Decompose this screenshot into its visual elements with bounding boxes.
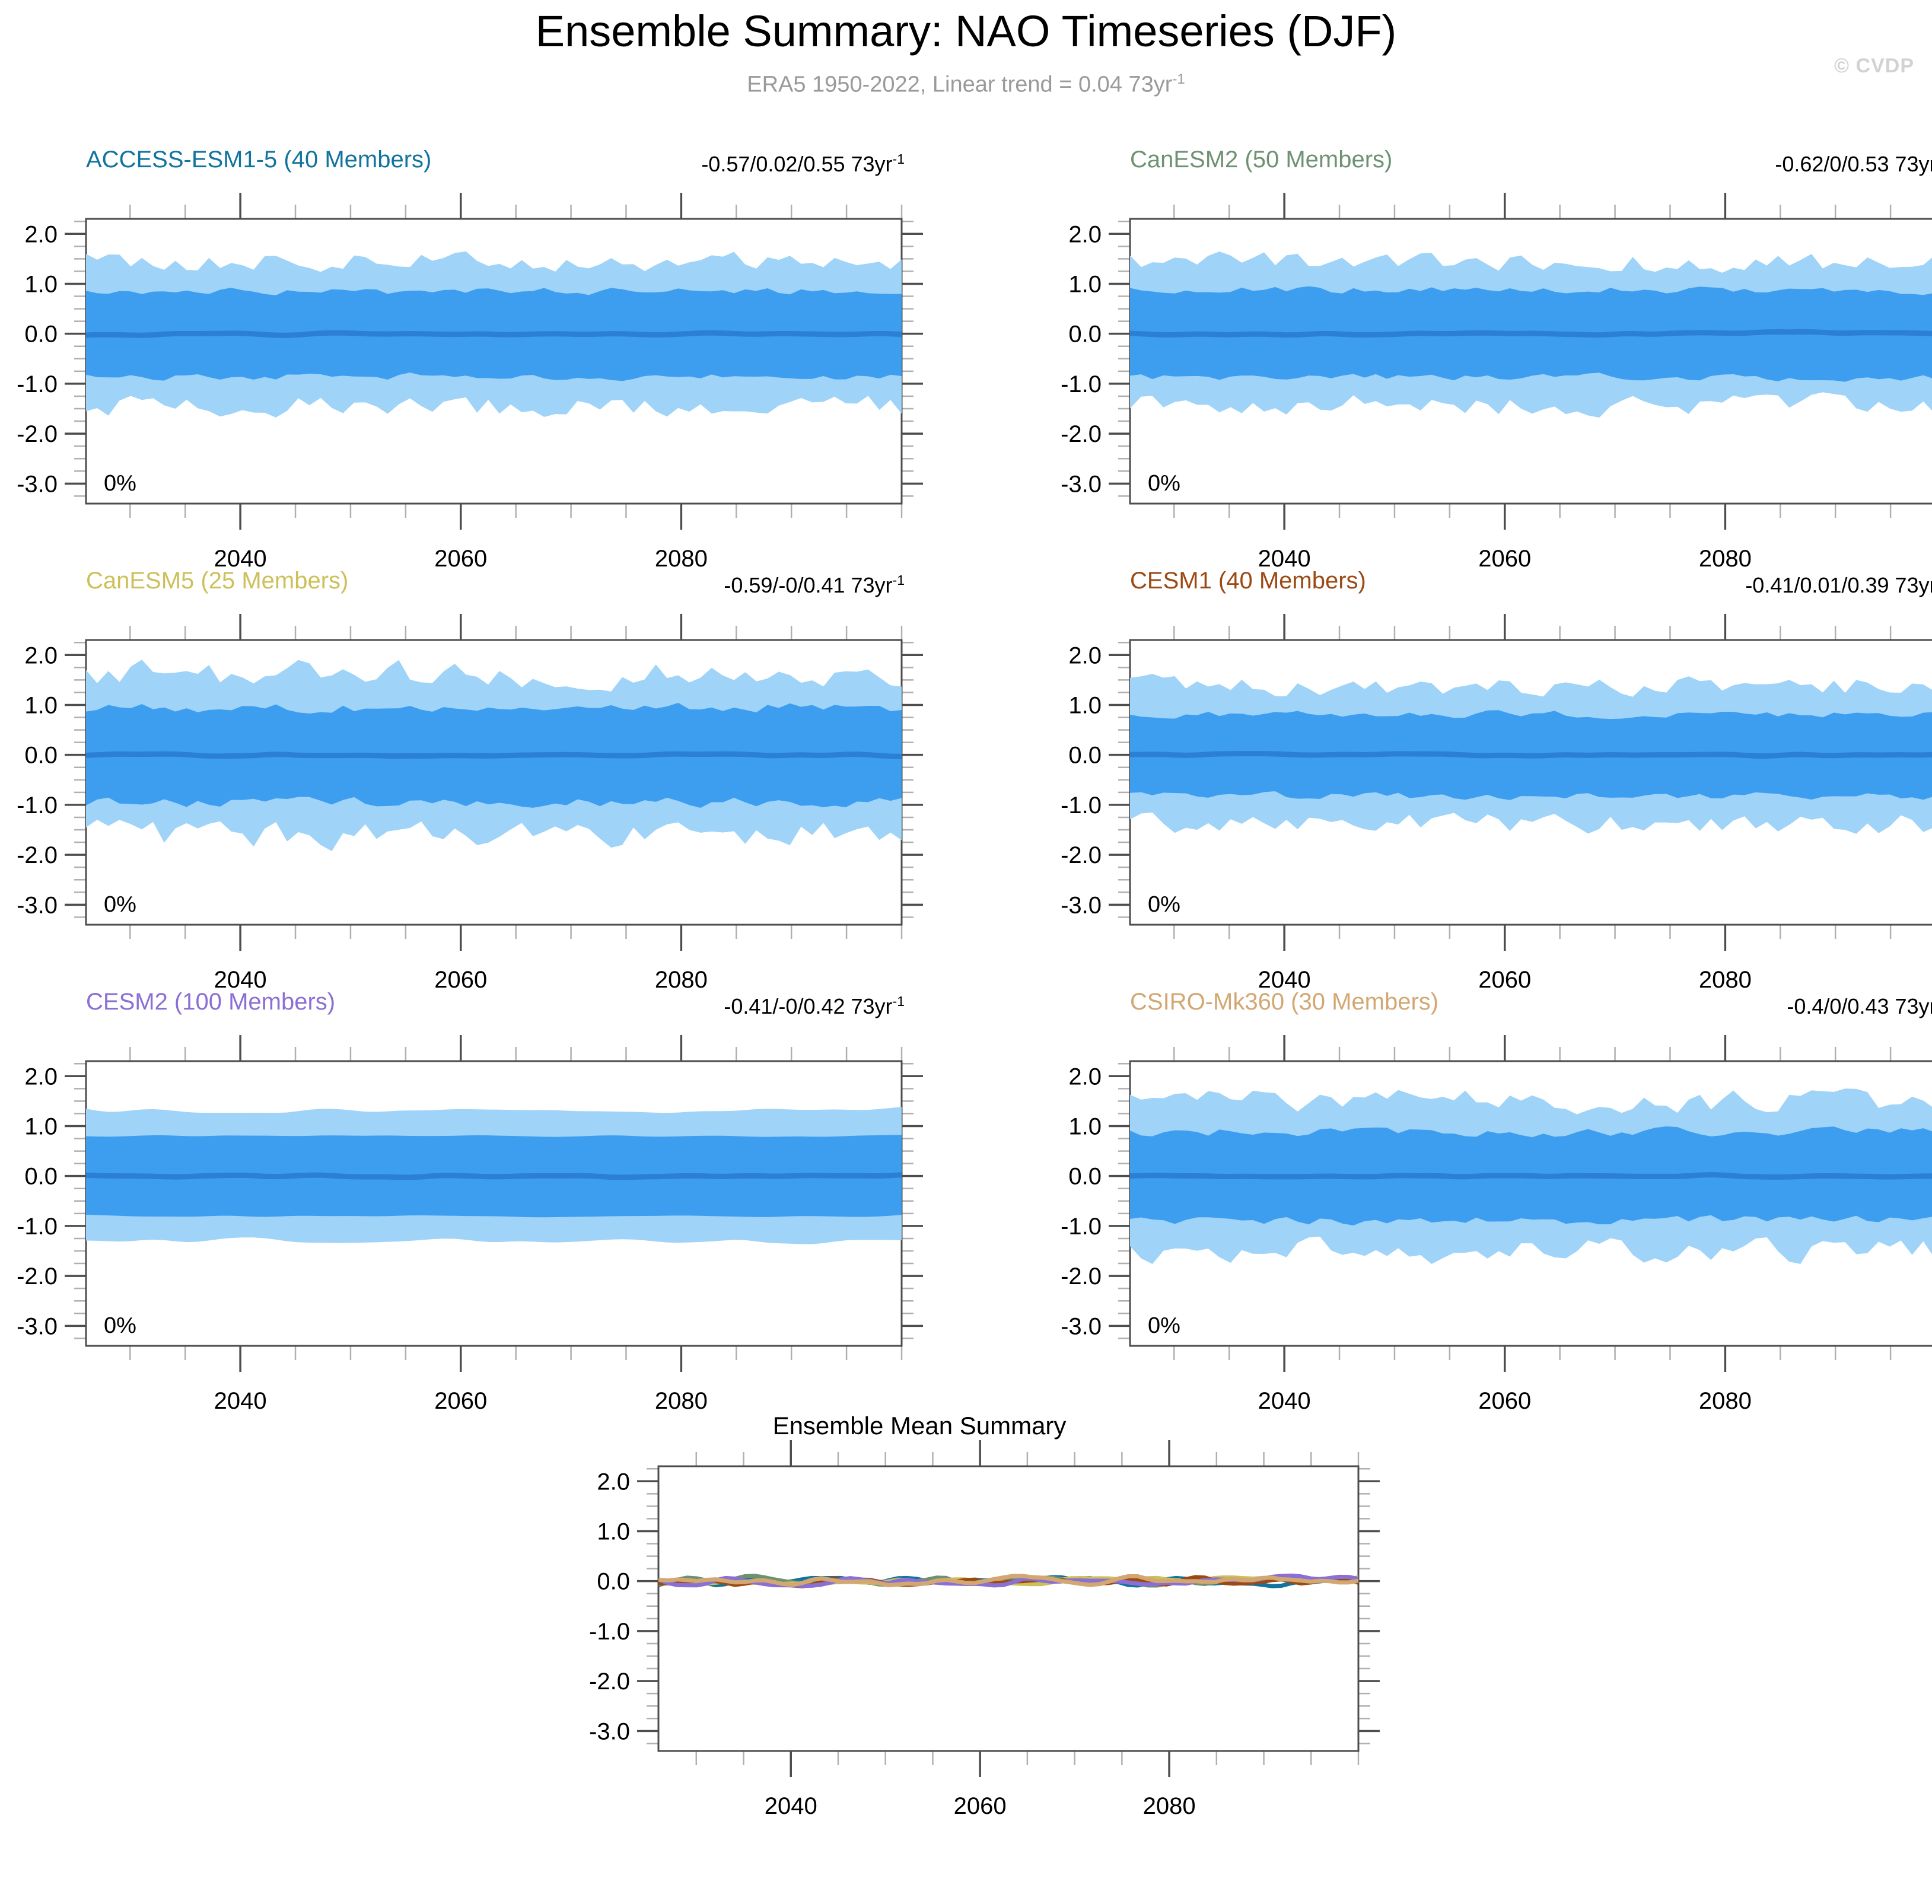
- panel-trend-range: -0.59/-0/0.41 73yr-1: [383, 572, 905, 598]
- panel-trend-value: -0.57/0.02/0.55 73yr: [701, 152, 892, 176]
- y-axis-tick-label: 0.0: [24, 321, 58, 348]
- x-axis-tick-label: 2040: [214, 1388, 267, 1414]
- y-axis-tick-label: -3.0: [17, 471, 58, 497]
- panel-plot: 2.01.00.0-1.0-2.0-3.02040206020800%: [1044, 1048, 1932, 1440]
- x-axis-tick-label: 2060: [434, 1388, 487, 1414]
- y-axis-tick-label: -2.0: [589, 1669, 630, 1695]
- y-axis-tick-label: -2.0: [1061, 842, 1102, 868]
- x-axis-tick-label: 2080: [1699, 546, 1752, 572]
- page-title: Ensemble Summary: NAO Timeseries (DJF): [0, 6, 1932, 56]
- x-axis-tick-label: 2060: [434, 967, 487, 993]
- panel-trend-value: -0.62/0/0.53 73yr: [1775, 152, 1932, 176]
- y-axis-tick-label: 1.0: [1068, 271, 1102, 297]
- y-axis-tick-label: -1.0: [1061, 1214, 1102, 1240]
- x-axis-tick-label: 2060: [1478, 546, 1531, 572]
- panel-trend-range: -0.41/-0/0.42 73yr-1: [383, 994, 905, 1019]
- y-axis-tick-label: -3.0: [589, 1718, 630, 1744]
- y-axis-tick-label: 2.0: [24, 642, 58, 668]
- ensemble-mean-plot: 2.01.00.0-1.0-2.0-3.0204020602080: [498, 1453, 1388, 1904]
- y-axis-tick-label: 2.0: [597, 1469, 630, 1495]
- x-axis-tick-label: 2080: [1699, 1388, 1752, 1414]
- y-axis-tick-label: 0.0: [1068, 743, 1102, 769]
- y-axis-tick-label: -1.0: [17, 792, 58, 819]
- y-axis-tick-label: -3.0: [17, 892, 58, 918]
- panel-trend-range: -0.41/0.01/0.39 73yr-1: [1427, 572, 1932, 598]
- cvdp-watermark: © CVDP: [1834, 55, 1914, 78]
- y-axis-tick-label: 2.0: [24, 221, 58, 247]
- percent-significant-label: 0%: [1148, 471, 1180, 496]
- y-axis-tick-label: 2.0: [24, 1064, 58, 1090]
- y-axis-tick-label: 1.0: [1068, 1113, 1102, 1139]
- ensemble-median-line: [1130, 1174, 1932, 1177]
- y-axis-tick-label: -1.0: [1061, 792, 1102, 819]
- y-axis-tick-label: 0.0: [24, 743, 58, 769]
- x-axis-tick-label: 2060: [434, 546, 487, 572]
- percent-significant-label: 0%: [104, 1313, 136, 1338]
- x-axis-tick-label: 2060: [1478, 1388, 1531, 1414]
- y-axis-tick-label: 0.0: [1068, 321, 1102, 348]
- panel-trend-value: -0.41/-0/0.42 73yr: [724, 994, 892, 1018]
- x-axis-tick-label: 2080: [655, 546, 708, 572]
- panel-trend-value: -0.4/0/0.43 73yr: [1787, 994, 1932, 1018]
- panel-title: CSIRO-Mk360 (30 Members): [1130, 989, 1438, 1015]
- panel-plot: 2.01.00.0-1.0-2.0-3.02040206020800%: [0, 206, 985, 597]
- y-axis-tick-label: -1.0: [1061, 371, 1102, 397]
- subtitle-exponent: -1: [1172, 71, 1185, 87]
- x-axis-tick-label: 2080: [1143, 1793, 1196, 1819]
- y-axis-tick-label: 1.0: [24, 692, 58, 718]
- panel-title: CESM2 (100 Members): [86, 989, 335, 1015]
- x-axis-tick-label: 2060: [1478, 967, 1531, 993]
- percent-significant-label: 0%: [104, 892, 136, 917]
- y-axis-tick-label: -3.0: [17, 1313, 58, 1339]
- panel-plot: 2.01.00.0-1.0-2.0-3.02040206020800%: [1044, 627, 1932, 1018]
- panel-trend-range: -0.57/0.02/0.55 73yr-1: [383, 151, 905, 177]
- panel-title: CanESM5 (25 Members): [86, 568, 348, 594]
- y-axis-tick-label: -2.0: [17, 1263, 58, 1290]
- panel-trend-exponent: -1: [893, 994, 905, 1009]
- panel-title: ACCESS-ESM1-5 (40 Members): [86, 147, 431, 173]
- panel-trend-value: -0.59/-0/0.41 73yr: [724, 573, 892, 597]
- y-axis-tick-label: -2.0: [1061, 421, 1102, 447]
- y-axis-tick-label: 2.0: [1068, 221, 1102, 247]
- panel-plot: 2.01.00.0-1.0-2.0-3.02040206020800%: [0, 627, 985, 1018]
- ensemble-median-line: [86, 1175, 902, 1177]
- y-axis-tick-label: -3.0: [1061, 1313, 1102, 1339]
- percent-significant-label: 0%: [1148, 892, 1180, 917]
- y-axis-tick-label: -3.0: [1061, 471, 1102, 497]
- percent-significant-label: 0%: [104, 471, 136, 496]
- x-axis-tick-label: 2080: [655, 1388, 708, 1414]
- panel-plot: 2.01.00.0-1.0-2.0-3.02040206020800%: [0, 1048, 985, 1440]
- y-axis-tick-label: -2.0: [17, 421, 58, 447]
- x-axis-tick-label: 2060: [954, 1793, 1007, 1819]
- panel-trend-exponent: -1: [893, 572, 905, 588]
- y-axis-tick-label: -3.0: [1061, 892, 1102, 918]
- x-axis-tick-label: 2080: [655, 967, 708, 993]
- ensemble-median-line: [1130, 754, 1932, 756]
- x-axis-tick-label: 2080: [1699, 967, 1752, 993]
- ensemble-median-line: [86, 333, 902, 335]
- y-axis-tick-label: 2.0: [1068, 642, 1102, 668]
- panel-trend-range: -0.62/0/0.53 73yr-1: [1427, 151, 1932, 177]
- y-axis-tick-label: 0.0: [1068, 1164, 1102, 1190]
- y-axis-tick-label: -1.0: [589, 1619, 630, 1645]
- panel-plot: 2.01.00.0-1.0-2.0-3.02040206020800%: [1044, 206, 1932, 597]
- percent-significant-label: 0%: [1148, 1313, 1180, 1338]
- panel-trend-exponent: -1: [893, 151, 905, 167]
- x-axis-tick-label: 2040: [1258, 1388, 1311, 1414]
- y-axis-tick-label: 2.0: [1068, 1064, 1102, 1090]
- y-axis-tick-label: -2.0: [1061, 1263, 1102, 1290]
- panel-title: CanESM2 (50 Members): [1130, 147, 1392, 173]
- y-axis-tick-label: -1.0: [17, 1214, 58, 1240]
- bottom-panel-title: Ensemble Mean Summary: [498, 1412, 1341, 1440]
- panel-trend-range: -0.4/0/0.43 73yr-1: [1427, 994, 1932, 1019]
- y-axis-tick-label: 1.0: [24, 1113, 58, 1139]
- panel-trend-value: -0.41/0.01/0.39 73yr: [1745, 573, 1932, 597]
- ensemble-median-line: [86, 754, 902, 756]
- page-subtitle: ERA5 1950-2022, Linear trend = 0.04 73yr…: [0, 71, 1932, 98]
- y-axis-tick-label: 1.0: [597, 1518, 630, 1545]
- subtitle-text: ERA5 1950-2022, Linear trend = 0.04 73yr: [747, 72, 1172, 97]
- y-axis-tick-label: 0.0: [597, 1569, 630, 1595]
- y-axis-tick-label: 1.0: [24, 271, 58, 297]
- x-axis-tick-label: 2040: [765, 1793, 817, 1819]
- y-axis-tick-label: 0.0: [24, 1164, 58, 1190]
- y-axis-tick-label: -1.0: [17, 371, 58, 397]
- ensemble-median-line: [1130, 332, 1932, 335]
- panel-title: CESM1 (40 Members): [1130, 568, 1366, 594]
- y-axis-tick-label: 1.0: [1068, 692, 1102, 718]
- y-axis-tick-label: -2.0: [17, 842, 58, 868]
